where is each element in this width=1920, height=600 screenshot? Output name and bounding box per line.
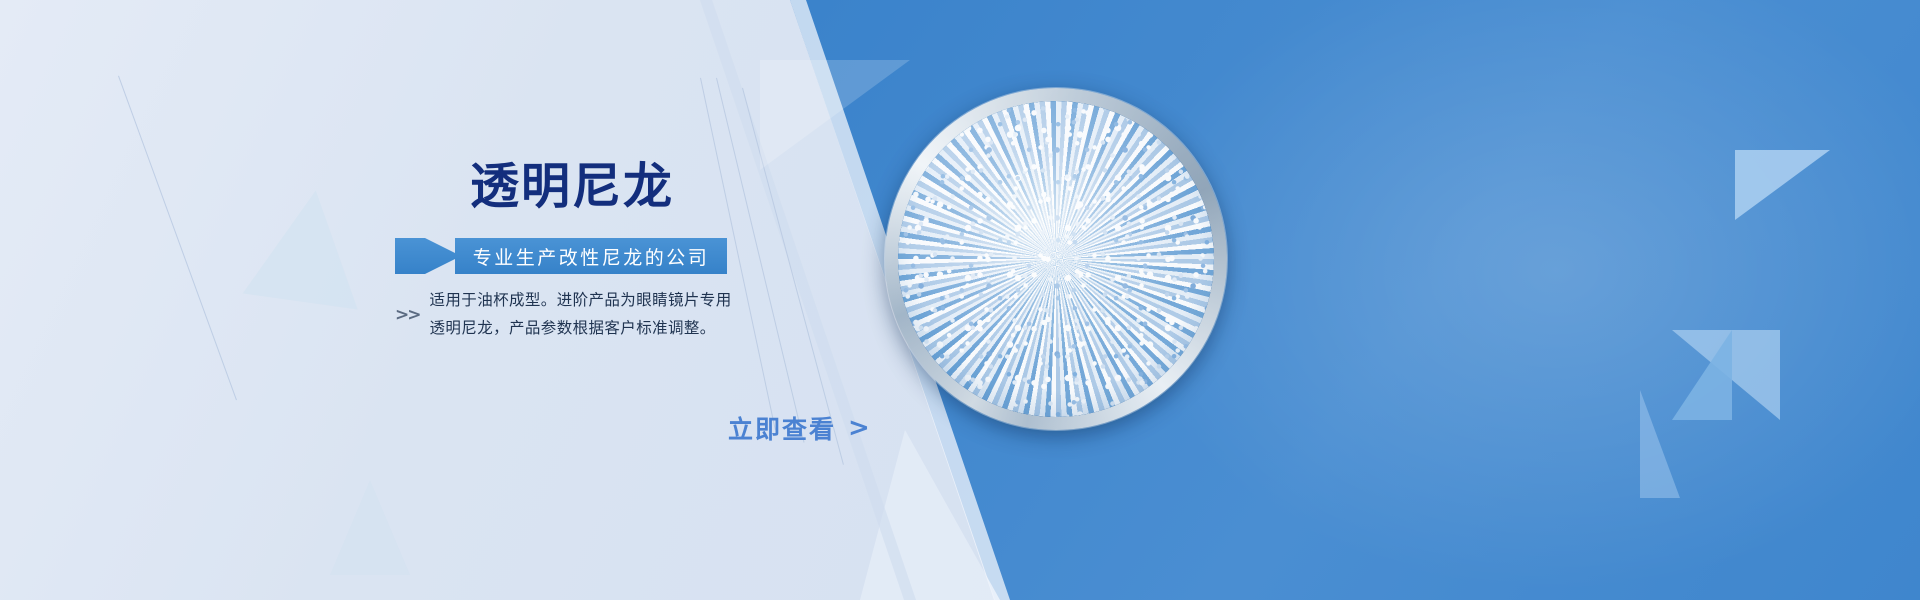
decorative-triangle (1672, 330, 1732, 420)
hero-content: 透明尼龙 专业生产改性尼龙的公司 >> 适用于油杯成型。进阶产品为眼睛镜片专用透… (0, 0, 790, 600)
hero-banner: 透明尼龙 专业生产改性尼龙的公司 >> 适用于油杯成型。进阶产品为眼睛镜片专用透… (0, 0, 1920, 600)
ribbon-label: 专业生产改性尼龙的公司 (455, 238, 727, 274)
description-block: >> 适用于油杯成型。进阶产品为眼睛镜片专用透明尼龙，产品参数根据客户标准调整。 (395, 286, 745, 342)
product-image (885, 88, 1227, 430)
page-title: 透明尼龙 (470, 162, 674, 211)
decorative-triangle (1640, 390, 1680, 498)
description-text: 适用于油杯成型。进阶产品为眼睛镜片专用透明尼龙，产品参数根据客户标准调整。 (430, 286, 746, 342)
petri-dish-interior (898, 101, 1214, 417)
nylon-pellets (898, 101, 1214, 417)
decorative-triangle (1735, 150, 1830, 220)
double-chevron-icon: >> (395, 305, 420, 324)
view-now-button[interactable]: 立即查看 > (728, 410, 872, 446)
view-now-label: 立即查看 (728, 410, 836, 446)
chevron-right-icon: > (848, 415, 872, 441)
